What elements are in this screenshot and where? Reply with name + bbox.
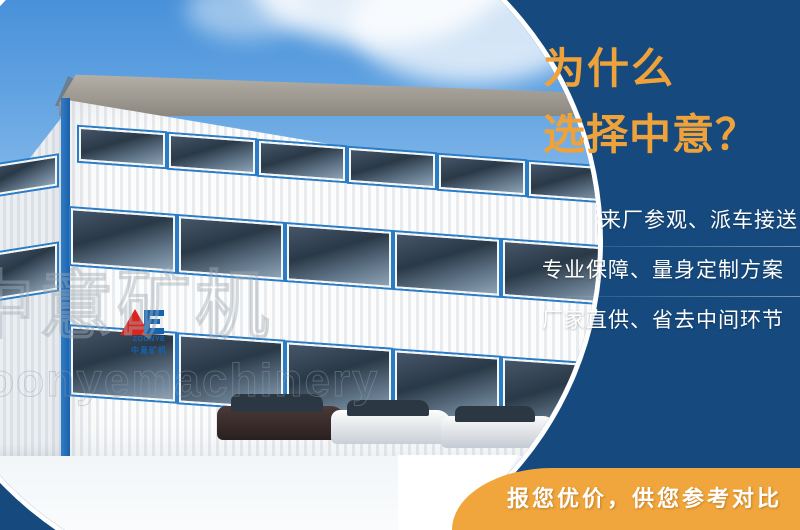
headline-line-2: 选择中意？ (543, 102, 793, 168)
page-title: 为什么 选择中意？ (543, 36, 793, 168)
factory-photo-circle: ZOONYE 中意矿机 (0, 0, 598, 530)
window-row-top (79, 126, 598, 172)
logo-latin-text: ZOONYE (118, 336, 180, 343)
window-row-side-lower (0, 244, 63, 298)
price-offer-banner: 报您优价，供您参考对比 (452, 468, 800, 530)
window-row-middle (71, 212, 598, 276)
banner-stage: ZOONYE 中意矿机 (0, 0, 800, 530)
logo-chinese-text: 中意矿机 (118, 345, 180, 356)
parked-car (217, 394, 345, 440)
factory-photo: ZOONYE 中意矿机 (0, 0, 598, 530)
feature-list: 来厂参观、派车接送 专业保障、量身定制方案 厂家直供、省去中间环节 (540, 196, 800, 346)
window-row-side (0, 152, 61, 192)
factory-building: ZOONYE 中意矿机 (0, 94, 591, 454)
list-item: 专业保障、量身定制方案 (540, 246, 800, 296)
photo-blue-border: ZOONYE 中意矿机 (0, 0, 598, 530)
list-item: 厂家直供、省去中间环节 (540, 296, 800, 346)
parked-car (441, 406, 557, 448)
cloud-icon (186, 0, 306, 39)
list-item: 来厂参观、派车接送 (540, 196, 800, 246)
headline-line-1: 为什么 (543, 36, 793, 102)
company-logo: ZOONYE 中意矿机 (118, 307, 180, 361)
price-offer-text: 报您优价，供您参考对比 (452, 481, 782, 513)
parked-car (331, 400, 451, 444)
